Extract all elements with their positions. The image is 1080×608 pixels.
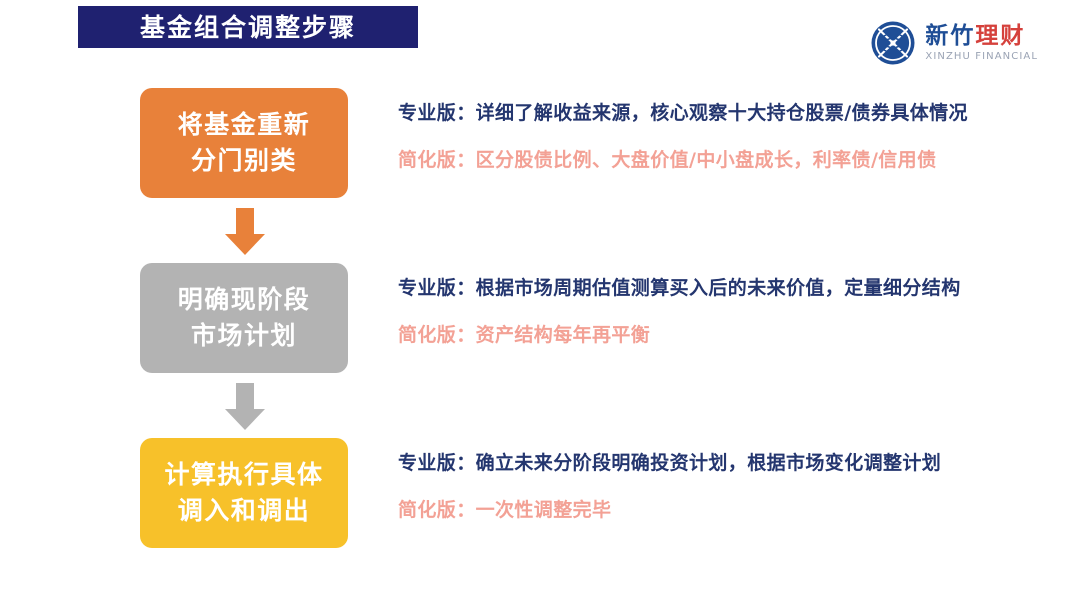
step-1-simplified-text: 简化版：区分股债比例、大盘价值/中小盘成长，利率债/信用债 xyxy=(398,151,968,170)
step-box-3-line-1: 计算执行具体 xyxy=(164,457,323,493)
step-description-1: 专业版：详细了解收益来源，核心观察十大持仓股票/债券具体情况 简化版：区分股债比… xyxy=(398,104,968,170)
brand-name-cn-primary: 新竹 xyxy=(925,23,975,49)
step-box-3-line-2: 调入和调出 xyxy=(178,493,311,529)
slide-canvas: 基金组合调整步骤 xyxy=(0,0,1080,608)
brand-name-cn-secondary: 理财 xyxy=(975,23,1025,49)
step-box-1-line-2: 分门别类 xyxy=(191,143,297,179)
step-2-simplified-text: 简化版：资产结构每年再平衡 xyxy=(398,326,961,345)
step-3-simplified-text: 简化版：一次性调整完毕 xyxy=(398,501,941,520)
step-description-3: 专业版：确立未来分阶段明确投资计划，根据市场变化调整计划 简化版：一次性调整完毕 xyxy=(398,454,941,520)
brand-name-en: XINZHU FINANCIAL xyxy=(925,52,1038,62)
step-box-3: 计算执行具体 调入和调出 xyxy=(140,438,348,548)
step-box-1: 将基金重新 分门别类 xyxy=(140,88,348,198)
step-box-1-line-1: 将基金重新 xyxy=(178,107,311,143)
globe-crossed-arrows-icon xyxy=(870,20,916,66)
step-3-professional-text: 专业版：确立未来分阶段明确投资计划，根据市场变化调整计划 xyxy=(398,454,941,473)
step-1-professional-text: 专业版：详细了解收益来源，核心观察十大持仓股票/债券具体情况 xyxy=(398,104,968,123)
step-2-professional-text: 专业版：根据市场周期估值测算买入后的未来价值，定量细分结构 xyxy=(398,279,961,298)
brand-logo: 新竹理财 XINZHU FINANCIAL xyxy=(870,20,1038,66)
arrow-down-icon-1 xyxy=(224,208,266,256)
step-box-2: 明确现阶段 市场计划 xyxy=(140,263,348,373)
step-box-2-line-2: 市场计划 xyxy=(191,318,297,354)
page-title: 基金组合调整步骤 xyxy=(140,15,356,40)
step-description-2: 专业版：根据市场周期估值测算买入后的未来价值，定量细分结构 简化版：资产结构每年… xyxy=(398,279,961,345)
brand-name-cn: 新竹理财 xyxy=(925,25,1038,48)
brand-wordmark: 新竹理财 XINZHU FINANCIAL xyxy=(925,25,1038,62)
step-box-2-line-1: 明确现阶段 xyxy=(178,282,311,318)
slide-title-bar: 基金组合调整步骤 xyxy=(78,6,418,48)
arrow-down-icon-2 xyxy=(224,383,266,431)
